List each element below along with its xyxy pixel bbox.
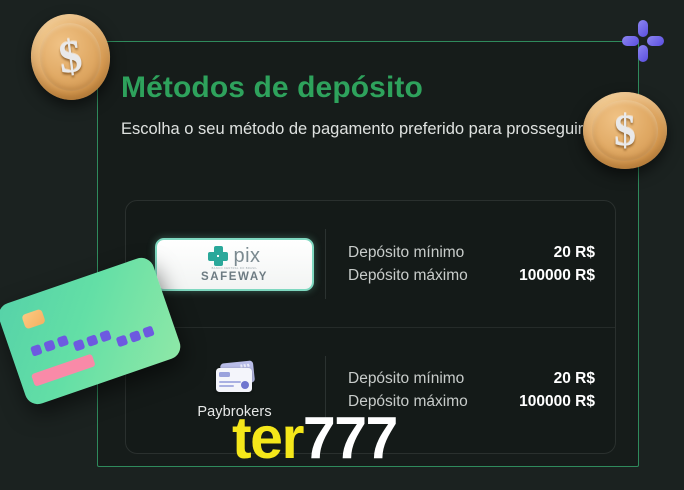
payment-method-row-pix[interactable]: pix BANCO CENTRAL DO BRASIL SAFEWAY Depó… (126, 201, 615, 327)
minimum-deposit-line: Depósito mínimo 20 R$ (348, 370, 595, 388)
method-limits-pix: Depósito mínimo 20 R$ Depósito máximo 10… (326, 244, 595, 285)
card-number-group (30, 335, 69, 357)
watermark-part-one: ter (232, 405, 303, 471)
card-front-shape (216, 368, 252, 392)
watermark-part-two: 777 (303, 405, 397, 471)
page-subtitle: Escolha o seu método de pagamento prefer… (121, 117, 591, 142)
pix-wordmark: pix (233, 246, 260, 266)
site-watermark: ter777 (232, 409, 397, 468)
pix-logo-row: pix (208, 246, 260, 266)
minimum-deposit-line: Depósito mínimo 20 R$ (348, 244, 595, 262)
maximum-deposit-value: 100000 R$ (519, 267, 595, 285)
minimum-deposit-label: Depósito mínimo (348, 370, 464, 388)
minimum-deposit-value: 20 R$ (554, 244, 595, 262)
plus-arm-right (647, 36, 664, 46)
page-title: Métodos de depósito (121, 71, 615, 105)
minimum-deposit-value: 20 R$ (554, 370, 595, 388)
minimum-deposit-label: Depósito mínimo (348, 244, 464, 262)
pix-diamond-icon (208, 246, 228, 266)
card-chip-icon (21, 309, 46, 330)
maximum-deposit-label: Depósito máximo (348, 267, 468, 285)
method-logo-pix[interactable]: pix BANCO CENTRAL DO BRASIL SAFEWAY (144, 238, 325, 291)
panel-header: Métodos de depósito Escolha o seu método… (121, 71, 615, 142)
pix-safeway-logo-tile: pix BANCO CENTRAL DO BRASIL SAFEWAY (155, 238, 314, 291)
coin-dollar-glyph: $ (56, 33, 84, 81)
safeway-brand-label: SAFEWAY (201, 272, 268, 284)
plus-arm-top (638, 20, 648, 37)
credit-cards-icon (212, 361, 258, 395)
plus-arm-bottom (638, 45, 648, 62)
card-stripe (31, 354, 96, 387)
maximum-deposit-value: 100000 R$ (519, 393, 595, 411)
maximum-deposit-line: Depósito máximo 100000 R$ (348, 267, 595, 285)
